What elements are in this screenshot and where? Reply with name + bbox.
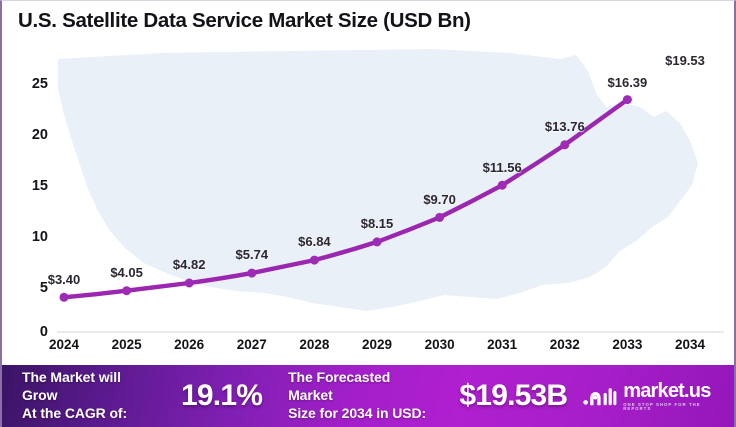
brand-logo[interactable]: market.us ONE STOP SHOP FOR THE REPORTS: [583, 381, 730, 412]
forecast-label: The Forecasted Market Size for 2034 in U…: [288, 369, 437, 423]
data-label: $4.05: [110, 265, 143, 280]
cagr-label-line1: The Market will Grow: [22, 369, 121, 403]
cagr-label-line2: At the CAGR of:: [22, 405, 159, 423]
forecast-label-line1: The Forecasted Market: [288, 369, 390, 403]
brand-text: market.us ONE STOP SHOP FOR THE REPORTS: [623, 381, 730, 412]
brand-name: market.us: [623, 381, 730, 401]
x-axis-label-2024: 2024: [29, 337, 99, 352]
data-label: $16.39: [608, 75, 648, 90]
x-axis-label-2026: 2026: [154, 337, 224, 352]
data-label: $5.74: [236, 247, 269, 262]
brand-tagline: ONE STOP SHOP FOR THE REPORTS: [623, 403, 730, 412]
chart-plot-area: 25 20 15 10 5 0: [2, 45, 736, 366]
y-axis-label-5: 5: [12, 280, 48, 296]
data-label: $9.70: [423, 192, 456, 207]
y-axis-label-25: 25: [12, 76, 48, 92]
x-axis-label-2025: 2025: [92, 337, 162, 352]
data-label: $4.82: [173, 257, 206, 272]
market-us-logo-icon: [583, 385, 617, 407]
data-label: $6.84: [298, 234, 331, 249]
x-axis-label-2029: 2029: [342, 337, 412, 352]
data-label: $19.53: [665, 53, 705, 68]
y-axis-label-20: 20: [12, 127, 48, 143]
cagr-label: The Market will Grow At the CAGR of:: [22, 369, 159, 423]
summary-footer-bar: The Market will Grow At the CAGR of: 19.…: [2, 365, 736, 427]
forecast-value: $19.53B: [459, 379, 567, 413]
y-axis-label-10: 10: [12, 229, 48, 245]
forecast-label-line2: Size for 2034 in USD:: [288, 405, 437, 423]
x-axis-label-2034: 2034: [655, 337, 725, 352]
data-label: $3.40: [48, 272, 81, 287]
chart-final-series: [2, 45, 736, 366]
cagr-value: 19.1%: [181, 379, 262, 413]
x-axis-label-2031: 2031: [467, 337, 537, 352]
y-axis-label-15: 15: [12, 178, 48, 194]
data-label: $13.76: [545, 119, 585, 134]
x-axis-label-2032: 2032: [530, 337, 600, 352]
data-label: $11.56: [483, 160, 522, 175]
data-label: $8.15: [361, 216, 394, 231]
x-axis-label-2030: 2030: [405, 337, 475, 352]
x-axis-label-2027: 2027: [217, 337, 287, 352]
x-axis-label-2028: 2028: [279, 337, 349, 352]
page-title: U.S. Satellite Data Service Market Size …: [18, 9, 471, 33]
x-axis-label-2033: 2033: [592, 337, 662, 352]
infographic-card: U.S. Satellite Data Service Market Size …: [0, 0, 736, 427]
